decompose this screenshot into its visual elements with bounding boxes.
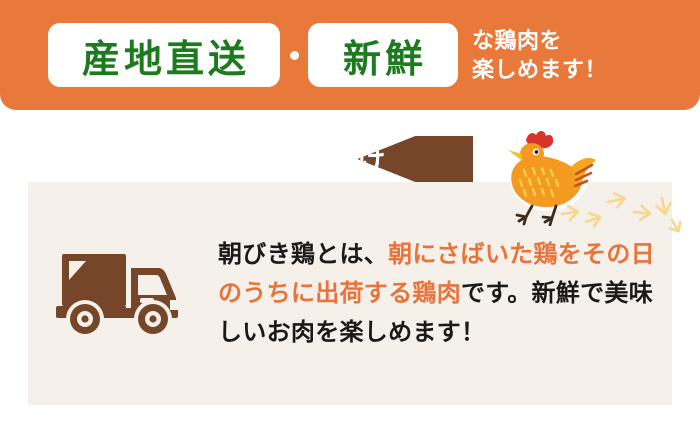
banner-tagline-line-1: な鶏肉を	[472, 26, 607, 55]
point-title: 朝びき鶏をお届け	[154, 139, 386, 179]
chicken-footprints	[560, 192, 700, 240]
banner-tagline-line-2: 楽しめます！	[472, 55, 607, 84]
dot-shape	[290, 51, 299, 60]
banner-tagline: な鶏肉を 楽しめます！	[472, 26, 607, 84]
point-number-badge: 1	[120, 146, 146, 172]
badge-separator-dot	[280, 51, 308, 60]
point-label: POINT	[42, 148, 110, 171]
description-segment-3: です。新鮮	[461, 280, 580, 307]
delivery-truck-icon	[52, 248, 192, 340]
badge-fresh: 新鮮	[308, 23, 458, 87]
badge-fresh-label: 新鮮	[343, 28, 427, 83]
point-ribbon: POINT 1 朝びき鶏をお届け	[28, 136, 473, 182]
badge-direct-from-farm-label: 産地直送	[82, 28, 250, 83]
description-segment-1: 朝びき鶏とは、	[218, 241, 388, 268]
promo-header-banner: 産地直送 新鮮 な鶏肉を 楽しめます！	[0, 0, 700, 110]
badge-direct-from-farm: 産地直送	[48, 23, 280, 87]
point-description: 朝びき鶏とは、朝にさばいた鶏をその日のうちに出荷する鶏肉です。新鮮で美味しいお肉…	[218, 236, 668, 353]
